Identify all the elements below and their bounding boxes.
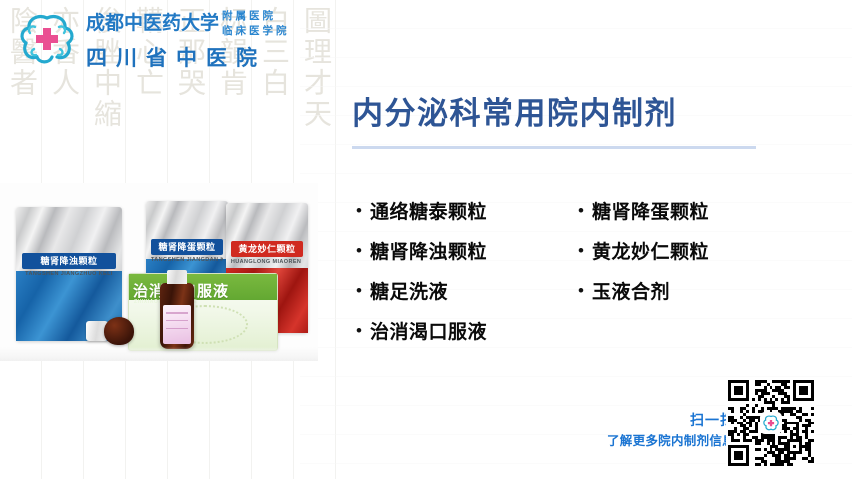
list-item-label: 糖肾降浊颗粒	[370, 237, 487, 264]
bottle-tipped	[104, 317, 134, 345]
bullet-icon: •	[578, 282, 592, 299]
slide-root: 陰醫者 亦香人 俊脞中縮 鞲心亡 正那哭 标韻肯 白三白 圖理才天	[0, 0, 852, 479]
list-item[interactable]: • 糖肾降蛋颗粒	[578, 190, 786, 230]
qr-code-icon[interactable]	[726, 378, 816, 468]
list-item-label: 治消渴口服液	[370, 317, 487, 344]
hospital-flower-cross-logo-icon	[14, 11, 80, 65]
title-divider	[352, 146, 756, 149]
list-item[interactable]: • 糖足洗液	[356, 270, 578, 310]
list-item[interactable]: • 糖肾降浊颗粒	[356, 230, 578, 270]
pouch-pinyin: HUANGLONG MIAOREN KELI	[231, 259, 303, 265]
bullet-icon: •	[578, 202, 592, 219]
list-item-label: 糖足洗液	[370, 277, 448, 304]
product-carton-zhixiaoke: 治消渴口服液 ZHIXIAOKE KOUFUYE	[128, 273, 278, 351]
pouch-label: 糖肾降蛋颗粒	[151, 239, 223, 255]
product-bottle-zhixiaoke	[160, 283, 194, 349]
bullet-icon: •	[356, 242, 370, 259]
qr-caption-line-2: 了解更多院内制剂信息	[607, 431, 735, 452]
qr-center-hospital-logo-icon	[760, 412, 782, 434]
preparation-lists: • 通络糖泰颗粒 • 糖肾降浊颗粒 • 糖足洗液 • 治消渴口服液 • 糖肾降蛋…	[356, 190, 786, 350]
list-item-label: 玉液合剂	[592, 277, 670, 304]
list-item[interactable]: • 通络糖泰颗粒	[356, 190, 578, 230]
bullet-icon: •	[356, 322, 370, 339]
list-item[interactable]: • 治消渴口服液	[356, 310, 578, 350]
pouch-label: 糖肾降浊颗粒	[22, 253, 115, 269]
preparation-list-left: • 通络糖泰颗粒 • 糖肾降浊颗粒 • 糖足洗液 • 治消渴口服液	[356, 190, 578, 350]
pouch-pinyin: TANGSHEN JIANGDAN KELI	[151, 257, 223, 263]
bullet-icon: •	[578, 242, 592, 259]
university-name: 成都中医药大学	[86, 9, 219, 39]
pouch-pinyin: TANGSHEN JIANGZHUO KELI	[22, 271, 115, 277]
bottle-label	[163, 305, 190, 343]
hospital-name: 四川省中医院	[86, 42, 326, 72]
list-item-label: 黄龙妙仁颗粒	[592, 237, 709, 264]
qr-caption-line-1: 扫一扫	[607, 410, 735, 431]
pouch-label: 黄龙妙仁颗粒	[231, 241, 303, 257]
preparation-list-right: • 糖肾降蛋颗粒 • 黄龙妙仁颗粒 • 玉液合剂	[578, 190, 786, 350]
hospital-header: 成都中医药大学 附属医院 临床医学院 四川省中医院	[0, 0, 330, 76]
affiliation-line-2: 临床医学院	[222, 24, 290, 39]
list-item[interactable]: • 玉液合剂	[578, 270, 786, 310]
affiliation-block: 附属医院 临床医学院	[222, 9, 290, 39]
hospital-name-block: 成都中医药大学 附属医院 临床医学院 四川省中医院	[86, 9, 326, 72]
affiliation-line-1: 附属医院	[222, 9, 290, 24]
bottle-cap	[167, 270, 186, 284]
list-item-label: 通络糖泰颗粒	[370, 197, 487, 224]
qr-caption: 扫一扫 了解更多院内制剂信息	[607, 410, 735, 452]
qr-section: 扫一扫 了解更多院内制剂信息	[560, 374, 852, 474]
product-photo: 糖肾降浊颗粒 TANGSHEN JIANGZHUO KELI 糖肾降蛋颗粒 TA…	[0, 183, 318, 361]
bullet-icon: •	[356, 282, 370, 299]
page-title: 内分泌科常用院内制剂	[352, 88, 677, 133]
list-item-label: 糖肾降蛋颗粒	[592, 197, 709, 224]
photo-shelf-shadow	[0, 347, 318, 361]
list-item[interactable]: • 黄龙妙仁颗粒	[578, 230, 786, 270]
bullet-icon: •	[356, 202, 370, 219]
